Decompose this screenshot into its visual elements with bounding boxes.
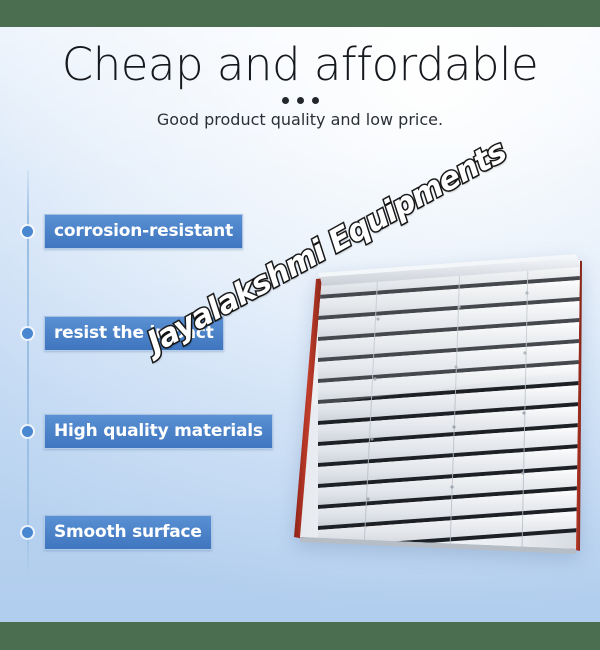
bullet-dot-icon (22, 328, 33, 339)
banner-image: Cheap and affordable Good product qualit… (0, 0, 600, 650)
bullet-dot-icon (22, 226, 33, 237)
bullet-dot-icon (22, 426, 33, 437)
feature-item-smooth-surface[interactable]: Smooth surface (0, 517, 212, 548)
product-banner: Cheap and affordable Good product qualit… (0, 27, 600, 622)
feature-label: corrosion-resistant (44, 214, 243, 249)
letterbox-band-bottom (0, 622, 600, 650)
bullet-dot-icon (22, 527, 33, 538)
feature-label: Smooth surface (44, 515, 212, 550)
feature-item-high-quality-materials[interactable]: High quality materials (0, 416, 273, 447)
feature-list: corrosion-resistant resist the impact Hi… (0, 27, 600, 622)
letterbox-band-top (0, 0, 600, 27)
feature-label: High quality materials (44, 414, 273, 449)
feature-item-corrosion-resistant[interactable]: corrosion-resistant (0, 216, 243, 247)
